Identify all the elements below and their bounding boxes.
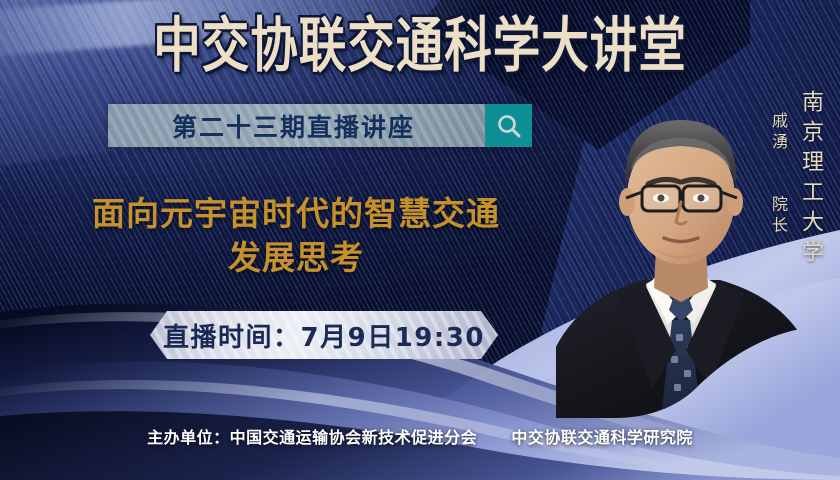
- lecture-topic-line2: 发展思考: [36, 236, 556, 280]
- lecture-topic-line1: 面向元宇宙时代的智慧交通: [92, 194, 500, 233]
- speaker-name: 戚湧: [769, 112, 788, 154]
- search-button[interactable]: [485, 104, 532, 147]
- episode-label: 第二十三期直播讲座: [108, 104, 485, 147]
- speaker-organization: 南京理工大学: [794, 90, 826, 270]
- speaker-name-title-column: 戚湧 院长: [766, 112, 790, 237]
- episode-bar: 第二十三期直播讲座: [108, 104, 532, 147]
- livestream-poster: 中交协联交通科学大讲堂 第二十三期直播讲座 面向元宇宙时代的智慧交通 发展思考 …: [0, 0, 840, 480]
- speaker-title: 院长: [769, 195, 788, 237]
- organizer-primary: 主办单位：中国交通运输协会新技术促进分会: [147, 428, 477, 447]
- page-title: 中交协联交通科学大讲堂: [13, 16, 828, 76]
- livestream-time-badge: 直播时间：7月9日19:30: [150, 311, 498, 359]
- speaker-info: 戚湧 院长 南京理工大学: [766, 90, 826, 270]
- search-icon: [495, 112, 523, 140]
- livestream-time-text: 直播时间：7月9日19:30: [163, 317, 485, 354]
- lecture-topic: 面向元宇宙时代的智慧交通 发展思考: [36, 192, 556, 280]
- speaker-name-title-spacer: [769, 164, 788, 185]
- organizer-footer: 主办单位：中国交通运输协会新技术促进分会 中交协联交通科学研究院: [0, 424, 840, 448]
- organizer-secondary: 中交协联交通科学研究院: [511, 428, 693, 447]
